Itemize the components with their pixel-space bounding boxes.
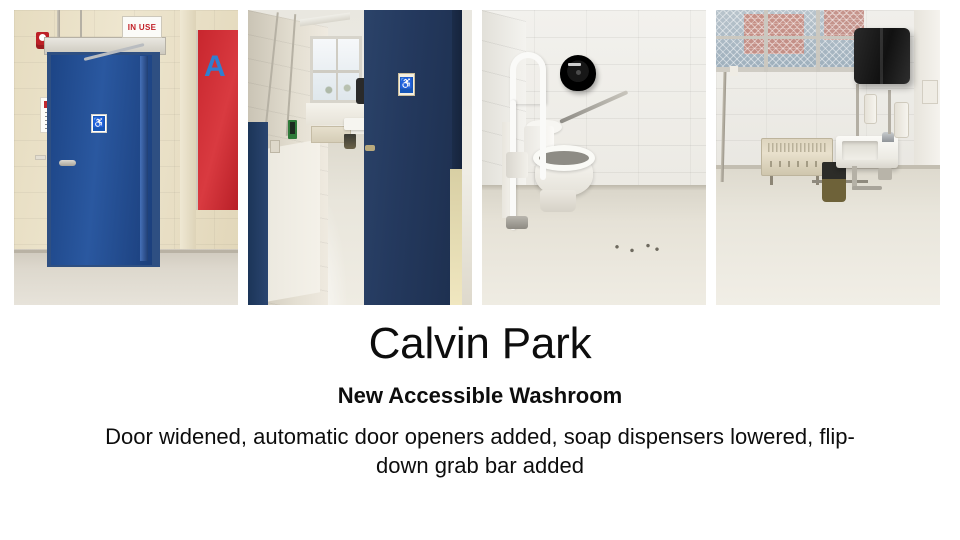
- shutoff-valve: [878, 168, 892, 180]
- wall-plate: [922, 80, 938, 104]
- interior-window: [310, 36, 362, 103]
- grab-bar-floor-mount: [506, 216, 528, 229]
- grab-bar-leg-rear: [540, 100, 546, 180]
- description-text: Door widened, automatic door openers add…: [85, 422, 875, 480]
- caption-block: Calvin Park New Accessible Washroom Door…: [0, 320, 960, 480]
- subtitle: New Accessible Washroom: [0, 384, 960, 408]
- green-wall-box: [288, 120, 297, 139]
- toilet-paper-dispenser: [560, 55, 596, 91]
- dispenser-brand-label: [568, 63, 581, 66]
- open-blue-door: [364, 10, 462, 305]
- photo-strip: A IN USE ♿: [14, 10, 946, 305]
- wheelchair-icon: ♿: [400, 77, 413, 93]
- photo-2-scene: ♿: [248, 10, 472, 305]
- slide: A IN USE ♿: [0, 0, 960, 540]
- window-transom-bar: [716, 36, 864, 39]
- wall-label: [35, 155, 46, 160]
- page-title: Calvin Park: [0, 320, 960, 368]
- sink: [836, 136, 898, 168]
- poster-letter: A: [204, 52, 226, 82]
- mounting-rail-left: [856, 84, 859, 136]
- window-foliage: [315, 76, 361, 96]
- grab-bar-arc: [510, 52, 546, 104]
- accessible-sign: ♿: [398, 73, 415, 96]
- door-lever-handle: [365, 145, 375, 151]
- waste-bin: [344, 134, 356, 149]
- sink-basin: [842, 141, 878, 160]
- waste-bin: [822, 162, 846, 202]
- red-bulletin-poster: A: [196, 30, 238, 210]
- door-edge: [140, 56, 148, 261]
- grab-bar-hinge: [506, 152, 528, 178]
- wall-corner: [180, 10, 196, 255]
- corridor-wall-sliver: [450, 169, 462, 305]
- soap-dispenser-right: [894, 102, 909, 138]
- mounting-rail-right: [888, 90, 891, 134]
- wall-outlet-plate: [270, 140, 280, 153]
- flip-down-grab-bar: [510, 52, 550, 227]
- sink-supply-line: [852, 186, 882, 190]
- photo-toilet-with-flip-down-grab-bar[interactable]: [482, 10, 706, 305]
- mesh-window: [716, 10, 864, 72]
- window-mullion-right: [816, 10, 820, 72]
- paper-towel-sheet: [730, 66, 738, 76]
- wheelchair-icon: ♿: [93, 116, 105, 131]
- photo-1-scene: A IN USE ♿: [14, 10, 238, 305]
- window-mullion-left: [764, 10, 768, 72]
- photo-3-scene: [482, 10, 706, 305]
- paper-towel-dispenser: [854, 28, 910, 84]
- photo-4-scene: [716, 10, 940, 305]
- door-lever-handle: [59, 160, 76, 166]
- photo-open-door-interior-view[interactable]: ♿: [248, 10, 472, 305]
- soap-dispenser-left: [864, 94, 877, 124]
- wall-conduit-secondary: [80, 10, 82, 38]
- accessible-sign: ♿: [91, 114, 107, 133]
- in-use-sign-label: IN USE: [128, 23, 156, 32]
- photo-accessible-washroom-door[interactable]: A IN USE ♿: [14, 10, 238, 305]
- floor-debris: [612, 242, 662, 254]
- in-use-sign: IN USE: [122, 16, 162, 38]
- left-door-edge: [248, 122, 268, 305]
- photo-sink-and-lowered-dispensers[interactable]: [716, 10, 940, 305]
